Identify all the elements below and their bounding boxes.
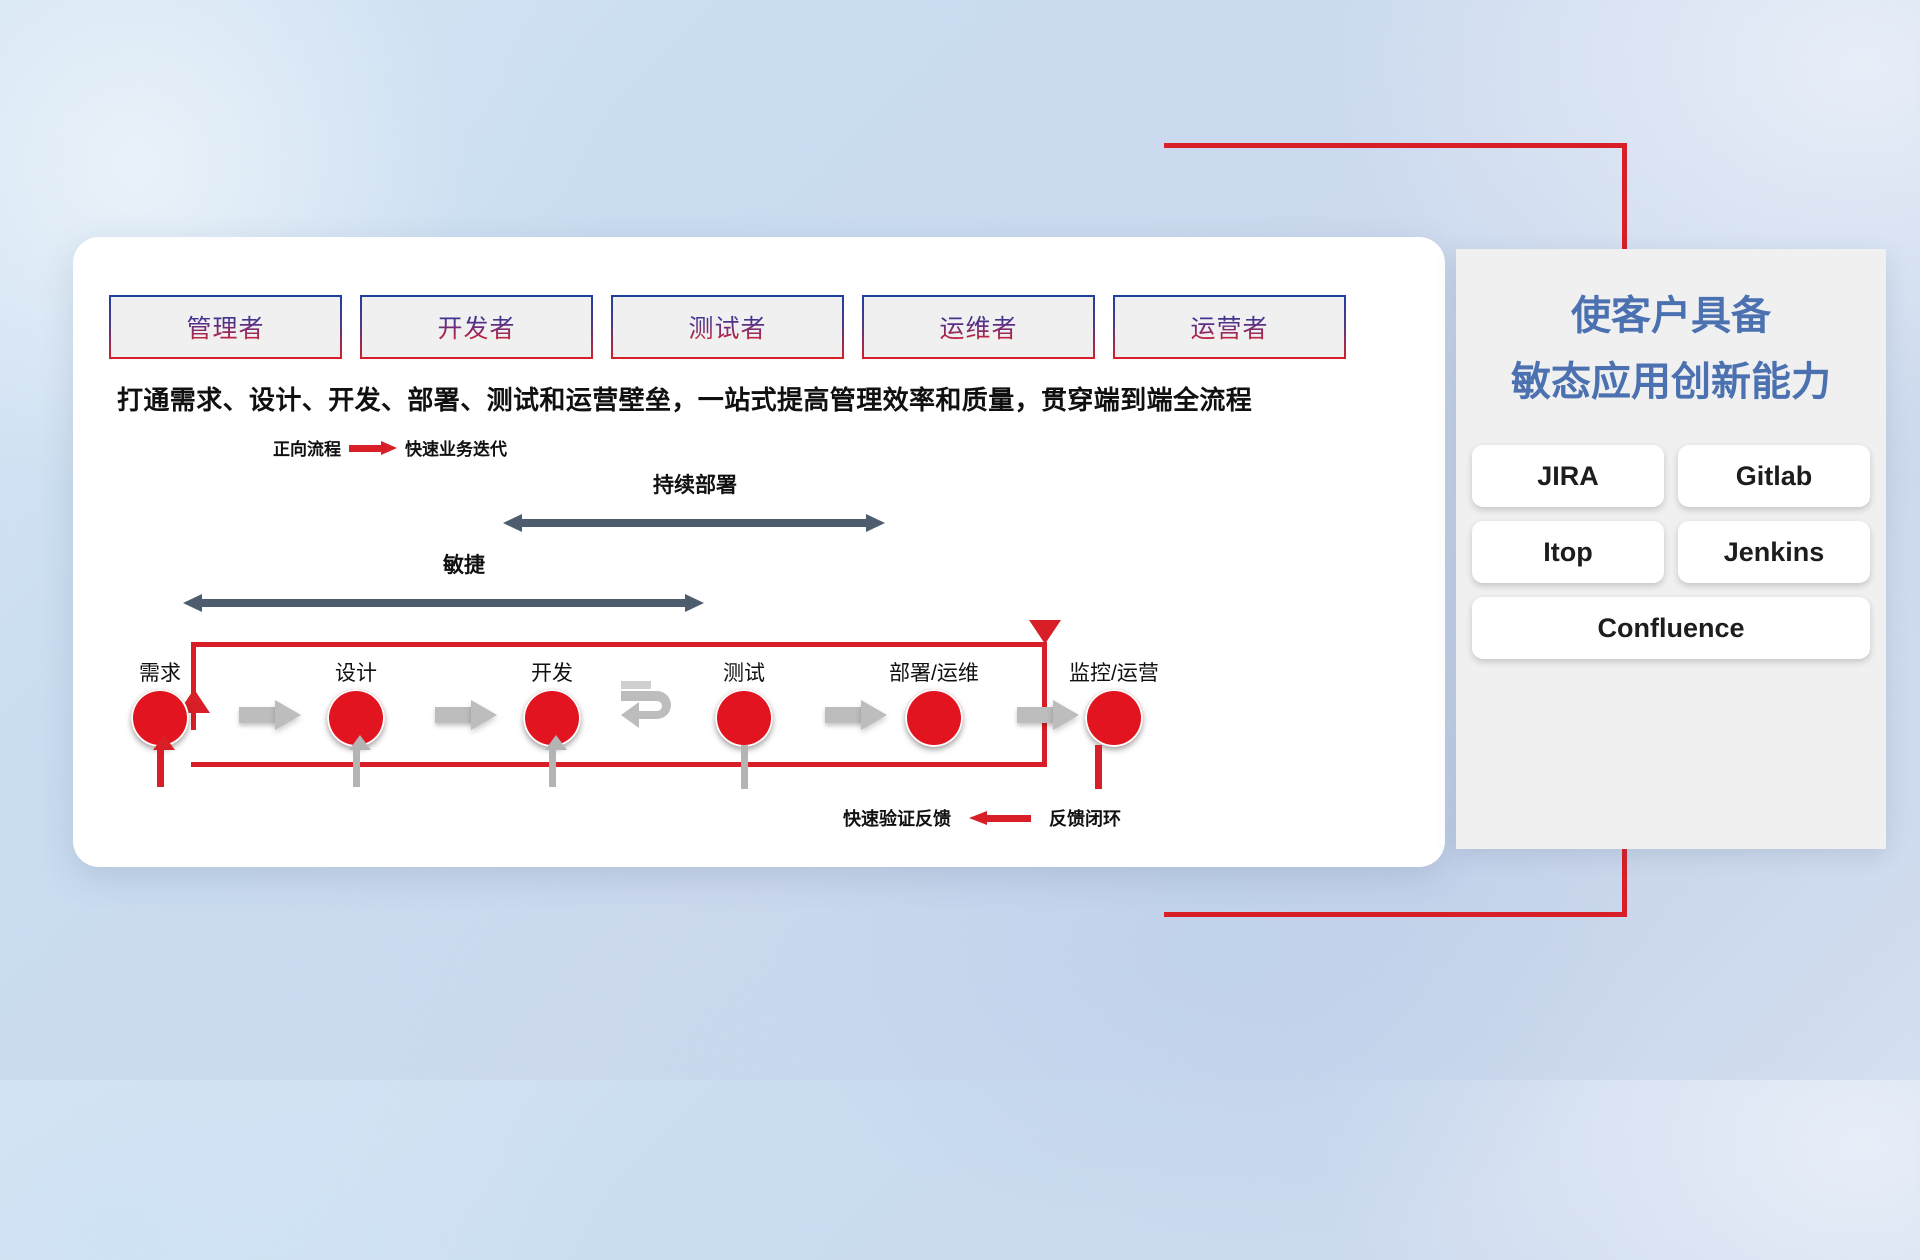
span-continuous-deployment-label: 持续部署 — [653, 469, 737, 499]
stage-monitor-operations-dot — [1085, 689, 1143, 747]
span-agile-label: 敏捷 — [443, 549, 485, 579]
role-manager-label: 管理者 — [186, 309, 264, 345]
stage-deploy-ops-dot — [905, 689, 963, 747]
headline-text: 打通需求、设计、开发、部署、测试和运营壁垒，一站式提高管理效率和质量，贯穿端到端… — [117, 380, 1252, 417]
main-diagram-card: 管理者 开发者 测试者 运维者 运营者 打通需求、设计、开发、部署、测试和运营壁… — [73, 237, 1445, 867]
pipeline-arrow-1-icon — [239, 700, 301, 730]
pipeline-arrow-2-icon — [435, 700, 497, 730]
panel-title-line1: 使客户具备 — [1456, 287, 1886, 345]
span-continuous-deployment-arrow — [503, 514, 885, 532]
feedback-left-label: 快速验证反馈 — [843, 805, 951, 831]
feedback-right-label: 反馈闭环 — [1049, 805, 1121, 831]
span-agile-arrow — [183, 594, 704, 612]
stage-monitor-operations[interactable]: 监控/运营 — [1069, 657, 1159, 747]
role-developer[interactable]: 开发者 — [360, 295, 593, 359]
panel-title-line2: 敏态应用创新能力 — [1456, 353, 1886, 411]
feedback-stem-design — [353, 747, 360, 787]
iteration-loop-icon — [617, 679, 687, 743]
stage-testing-dot — [715, 689, 773, 747]
role-manager[interactable]: 管理者 — [109, 295, 342, 359]
stage-testing[interactable]: 测试 — [715, 657, 773, 747]
stage-development[interactable]: 开发 — [523, 657, 581, 747]
feedback-stem-monitor — [1095, 745, 1102, 789]
forward-flow-left-label: 正向流程 — [273, 435, 341, 460]
tool-gitlab[interactable]: Gitlab — [1678, 445, 1870, 507]
pipeline-row: 需求 设计 开发 测试 — [109, 657, 1409, 817]
role-operations[interactable]: 运营者 — [1113, 295, 1346, 359]
panel-title: 使客户具备 敏态应用创新能力 — [1456, 287, 1886, 411]
role-operations-label: 运营者 — [1190, 309, 1268, 345]
feedback-loop-legend: 快速验证反馈 反馈闭环 — [843, 805, 1121, 831]
arrow-left-icon — [969, 811, 1031, 825]
feedback-arrow-requirements-icon — [153, 735, 175, 750]
tool-itop[interactable]: Itop — [1472, 521, 1664, 583]
tool-jira[interactable]: JIRA — [1472, 445, 1664, 507]
stage-requirements-label: 需求 — [131, 657, 189, 687]
tool-button-grid: JIRA Gitlab Itop Jenkins Confluence — [1472, 445, 1870, 659]
stage-requirements[interactable]: 需求 — [131, 657, 189, 747]
stage-deploy-ops[interactable]: 部署/运维 — [889, 657, 979, 747]
stage-testing-label: 测试 — [715, 657, 773, 687]
role-developer-label: 开发者 — [437, 309, 515, 345]
feedback-stem-development — [549, 747, 556, 787]
role-ops[interactable]: 运维者 — [862, 295, 1095, 359]
feedback-arrow-development-icon — [545, 735, 567, 750]
feedback-arrow-design-icon — [349, 735, 371, 750]
forward-flow-right-label: 快速业务迭代 — [405, 435, 507, 460]
role-ops-label: 运维者 — [939, 309, 1017, 345]
forward-flow-legend: 正向流程 快速业务迭代 — [273, 435, 507, 460]
stage-design[interactable]: 设计 — [327, 657, 385, 747]
role-tester[interactable]: 测试者 — [611, 295, 844, 359]
tool-confluence[interactable]: Confluence — [1472, 597, 1870, 659]
feedback-stem-requirements — [157, 747, 164, 787]
role-box-row: 管理者 开发者 测试者 运维者 运营者 — [109, 295, 1346, 359]
arrow-right-icon — [349, 441, 397, 455]
stage-deploy-ops-label: 部署/运维 — [889, 657, 979, 687]
stage-monitor-operations-label: 监控/运营 — [1069, 657, 1159, 687]
pipeline-arrow-3-icon — [825, 700, 887, 730]
stage-design-label: 设计 — [327, 657, 385, 687]
tool-jenkins[interactable]: Jenkins — [1678, 521, 1870, 583]
stage-development-label: 开发 — [523, 657, 581, 687]
loop-top-line — [191, 642, 1047, 647]
tools-panel: 使客户具备 敏态应用创新能力 JIRA Gitlab Itop Jenkins … — [1456, 249, 1886, 849]
role-tester-label: 测试者 — [688, 309, 766, 345]
feedback-stem-testing — [741, 745, 748, 789]
loop-arrow-down-icon — [1029, 620, 1061, 644]
